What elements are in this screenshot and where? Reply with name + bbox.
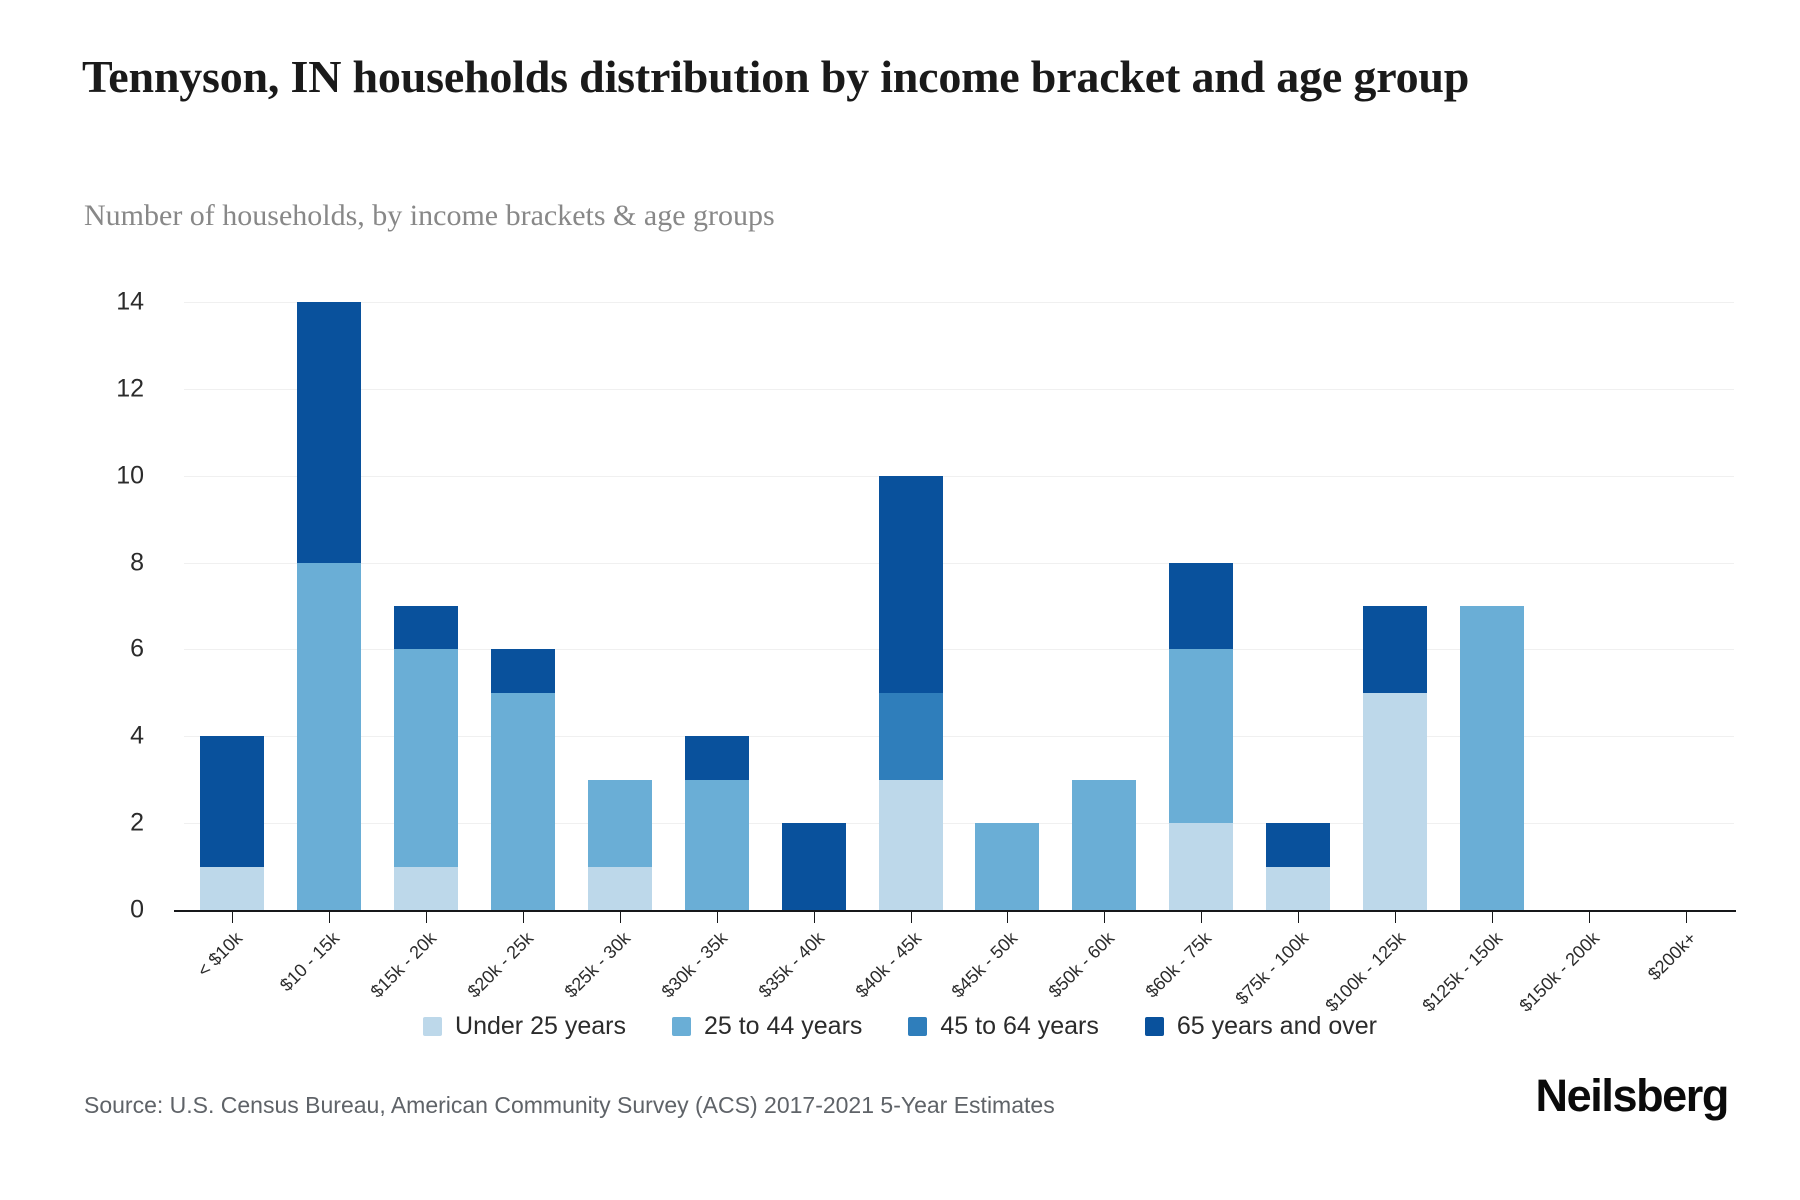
bar-segment[interactable]: [879, 780, 943, 910]
x-tick-label: $25k - 30k: [560, 928, 634, 1002]
bar-column[interactable]: [378, 302, 475, 910]
x-tick-mark: [1298, 912, 1299, 923]
chart-page: Tennyson, IN households distribution by …: [0, 0, 1800, 1200]
y-tick-label: 12: [64, 374, 144, 403]
x-tick-column: $35k - 40k: [765, 912, 862, 926]
stacked-bar[interactable]: [394, 606, 458, 910]
bar-segment[interactable]: [394, 867, 458, 910]
x-tick-label: $50k - 60k: [1045, 928, 1119, 1002]
legend-item[interactable]: 65 years and over: [1145, 1012, 1377, 1041]
source-note: Source: U.S. Census Bureau, American Com…: [84, 1092, 1055, 1119]
bar-segment[interactable]: [1072, 780, 1136, 910]
stacked-bar[interactable]: [1169, 563, 1233, 910]
brand-logo: Neilsberg: [1536, 1070, 1728, 1122]
bar-column[interactable]: [765, 302, 862, 910]
bar-column[interactable]: [1637, 302, 1734, 910]
x-tick-column: $25k - 30k: [572, 912, 669, 926]
y-tick-label: 0: [64, 896, 144, 925]
x-tick-column: $10 - 15k: [281, 912, 378, 926]
x-tick-column: $30k - 35k: [668, 912, 765, 926]
x-tick-column: $60k - 75k: [1153, 912, 1250, 926]
bar-segment[interactable]: [975, 823, 1039, 910]
x-axis-ticks: < $10k$10 - 15k$15k - 20k$20k - 25k$25k …: [184, 912, 1734, 926]
x-tick-label: $35k - 40k: [754, 928, 828, 1002]
x-tick-mark: [814, 912, 815, 923]
bar-column[interactable]: [668, 302, 765, 910]
bar-column[interactable]: [184, 302, 281, 910]
x-tick-label: $40k - 45k: [851, 928, 925, 1002]
x-tick-mark: [426, 912, 427, 923]
bar-column[interactable]: [572, 302, 669, 910]
bar-segment[interactable]: [200, 867, 264, 910]
y-tick-label: 14: [64, 288, 144, 317]
bar-column[interactable]: [1153, 302, 1250, 910]
legend-label: 25 to 44 years: [704, 1012, 862, 1041]
y-tick-label: 8: [64, 548, 144, 577]
x-tick-column: < $10k: [184, 912, 281, 926]
stacked-bar[interactable]: [200, 736, 264, 910]
bar-column[interactable]: [281, 302, 378, 910]
legend-label: Under 25 years: [455, 1012, 626, 1041]
bar-segment[interactable]: [1363, 606, 1427, 693]
x-tick-mark: [1007, 912, 1008, 923]
x-tick-label: $75k - 100k: [1232, 928, 1313, 1009]
y-tick-label: 6: [64, 635, 144, 664]
bar-column[interactable]: [1443, 302, 1540, 910]
x-tick-column: $40k - 45k: [862, 912, 959, 926]
x-tick-column: $75k - 100k: [1250, 912, 1347, 926]
x-tick-mark: [1686, 912, 1687, 923]
legend-label: 45 to 64 years: [940, 1012, 1098, 1041]
stacked-bar[interactable]: [782, 823, 846, 910]
y-tick-label: 10: [64, 461, 144, 490]
x-tick-label: $150k - 200k: [1515, 928, 1603, 1016]
bar-segment[interactable]: [685, 736, 749, 779]
stacked-bar[interactable]: [1266, 823, 1330, 910]
x-tick-mark: [523, 912, 524, 923]
bar-segment[interactable]: [685, 780, 749, 910]
bar-segment[interactable]: [394, 606, 458, 649]
bar-segment[interactable]: [1266, 867, 1330, 910]
bar-segment[interactable]: [200, 736, 264, 866]
x-tick-label: $10 - 15k: [276, 928, 344, 996]
x-tick-column: $125k - 150k: [1443, 912, 1540, 926]
x-tick-column: $45k - 50k: [959, 912, 1056, 926]
x-tick-label: $30k - 35k: [657, 928, 731, 1002]
x-tick-mark: [1492, 912, 1493, 923]
y-tick-label: 2: [64, 809, 144, 838]
x-tick-label: $100k - 125k: [1321, 928, 1409, 1016]
page-title: Tennyson, IN households distribution by …: [82, 48, 1642, 107]
stacked-bar[interactable]: [297, 302, 361, 910]
x-tick-mark: [1104, 912, 1105, 923]
x-tick-label: $60k - 75k: [1142, 928, 1216, 1002]
x-tick-mark: [1395, 912, 1396, 923]
x-tick-mark: [1201, 912, 1202, 923]
bar-segment[interactable]: [1460, 606, 1524, 910]
x-tick-mark: [329, 912, 330, 923]
legend-swatch-icon: [1145, 1017, 1164, 1036]
bar-segment[interactable]: [879, 693, 943, 780]
x-tick-mark: [911, 912, 912, 923]
bar-segment[interactable]: [297, 563, 361, 910]
bar-segment[interactable]: [879, 476, 943, 693]
bar-segment[interactable]: [394, 649, 458, 866]
x-tick-mark: [620, 912, 621, 923]
bar-column[interactable]: [1056, 302, 1153, 910]
legend-label: 65 years and over: [1177, 1012, 1377, 1041]
bar-segment[interactable]: [1363, 693, 1427, 910]
bar-series-group: [184, 302, 1734, 910]
stacked-bar[interactable]: [491, 649, 555, 910]
bar-segment[interactable]: [491, 649, 555, 692]
bar-segment[interactable]: [588, 867, 652, 910]
stacked-bar[interactable]: [879, 476, 943, 910]
stacked-bar[interactable]: [1460, 606, 1524, 910]
bar-segment[interactable]: [1169, 649, 1233, 823]
stacked-bar[interactable]: [975, 823, 1039, 910]
legend-swatch-icon: [672, 1017, 691, 1036]
x-tick-label: $20k - 25k: [464, 928, 538, 1002]
stacked-bar[interactable]: [1072, 780, 1136, 910]
bar-segment[interactable]: [588, 780, 652, 867]
bar-segment[interactable]: [1169, 823, 1233, 910]
y-tick-label: 4: [64, 722, 144, 751]
x-tick-column: $20k - 25k: [475, 912, 572, 926]
bar-column[interactable]: [1540, 302, 1637, 910]
bar-column[interactable]: [862, 302, 959, 910]
x-tick-mark: [232, 912, 233, 923]
stacked-bar[interactable]: [588, 780, 652, 910]
legend-item[interactable]: Under 25 years: [423, 1012, 626, 1041]
stacked-bar[interactable]: [685, 736, 749, 910]
x-tick-column: $15k - 20k: [378, 912, 475, 926]
stacked-bar[interactable]: [1363, 606, 1427, 910]
x-tick-label: $125k - 150k: [1418, 928, 1506, 1016]
plot-area: 02468101214 < $10k$10 - 15k$15k - 20k$20…: [184, 302, 1734, 910]
bar-column[interactable]: [475, 302, 572, 910]
bar-segment[interactable]: [782, 823, 846, 910]
x-tick-label: < $10k: [194, 928, 247, 981]
bar-column[interactable]: [1250, 302, 1347, 910]
bar-column[interactable]: [959, 302, 1056, 910]
x-tick-label: $15k - 20k: [367, 928, 441, 1002]
legend-swatch-icon: [908, 1017, 927, 1036]
legend-swatch-icon: [423, 1017, 442, 1036]
x-tick-label: $200k+: [1643, 928, 1700, 985]
x-tick-label: $45k - 50k: [948, 928, 1022, 1002]
legend-item[interactable]: 45 to 64 years: [908, 1012, 1098, 1041]
bar-segment[interactable]: [1169, 563, 1233, 650]
bar-segment[interactable]: [1266, 823, 1330, 866]
bar-segment[interactable]: [297, 302, 361, 563]
bar-column[interactable]: [1347, 302, 1444, 910]
x-tick-mark: [1589, 912, 1590, 923]
x-tick-column: $200k+: [1637, 912, 1734, 926]
chart-legend: Under 25 years25 to 44 years45 to 64 yea…: [0, 1012, 1800, 1041]
x-tick-column: $150k - 200k: [1540, 912, 1637, 926]
x-tick-mark: [717, 912, 718, 923]
bar-segment[interactable]: [491, 693, 555, 910]
legend-item[interactable]: 25 to 44 years: [672, 1012, 862, 1041]
x-tick-column: $100k - 125k: [1347, 912, 1444, 926]
page-subtitle: Number of households, by income brackets…: [84, 198, 1484, 234]
x-tick-column: $50k - 60k: [1056, 912, 1153, 926]
